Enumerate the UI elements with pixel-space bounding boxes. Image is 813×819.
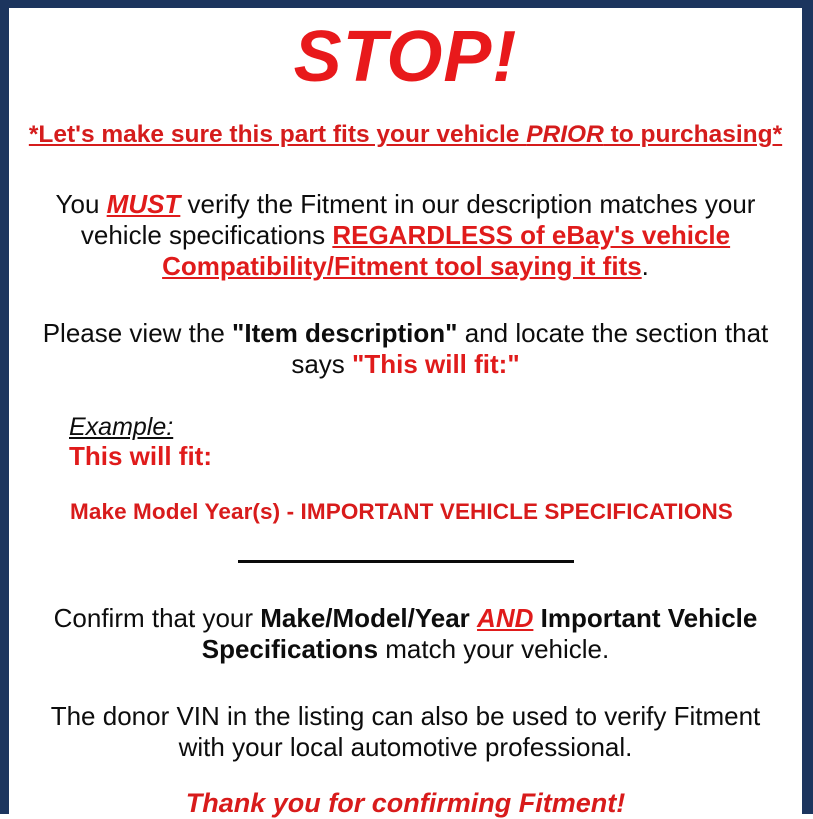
this-will-fit-quote: "This will fit:" (352, 349, 520, 379)
tagline-part1: *Let's make sure this part fits your veh… (29, 121, 526, 148)
confirm-space-1 (470, 603, 477, 633)
divider-container (23, 552, 788, 570)
thank-you-message: Thank you for confirming Fitment! (23, 789, 788, 819)
view-lead: Please view the (43, 318, 232, 348)
view-description-paragraph: Please view the "Item description" and l… (23, 318, 788, 380)
item-description-label: "Item description" (232, 318, 457, 348)
must-tail: . (642, 251, 649, 281)
tagline-emphasis-prior: PRIOR (526, 121, 604, 148)
example-label: Example: (69, 413, 173, 442)
make-model-year-label: Make/Model/Year (260, 603, 470, 633)
must-lead: You (56, 189, 107, 219)
example-spec-line: Make Model Year(s) - IMPORTANT VEHICLE S… (70, 499, 788, 525)
confirm-space-2 (533, 603, 540, 633)
confirm-paragraph: Confirm that your Make/Model/Year AND Im… (23, 603, 788, 665)
vin-paragraph: The donor VIN in the listing can also be… (23, 701, 788, 763)
page-title: STOP! (23, 21, 788, 93)
example-fit-heading: This will fit: (69, 442, 788, 471)
confirm-lead: Confirm that your (54, 603, 261, 633)
tagline: *Let's make sure this part fits your veh… (23, 122, 788, 149)
fitment-notice-card: STOP! *Let's make sure this part fits yo… (0, 0, 813, 814)
emphasis-and: AND (477, 603, 533, 633)
confirm-tail: match your vehicle. (378, 634, 609, 664)
emphasis-must: MUST (107, 189, 181, 219)
example-block: Example: This will fit: Make Model Year(… (23, 413, 788, 526)
tagline-part2: to purchasing* (604, 121, 782, 148)
horizontal-divider (238, 560, 574, 563)
must-verify-paragraph: You MUST verify the Fitment in our descr… (23, 189, 788, 282)
notice-content-area: STOP! *Let's make sure this part fits yo… (9, 21, 802, 815)
